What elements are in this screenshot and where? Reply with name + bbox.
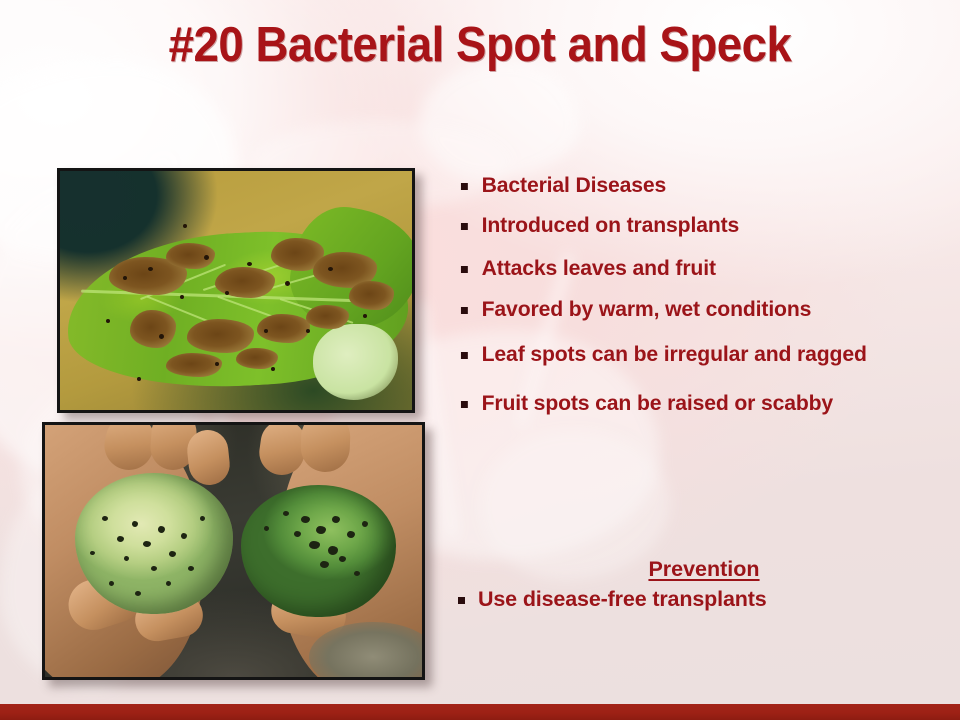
bullet-list: Bacterial Diseases Introduced on transpl…: [458, 172, 950, 417]
bullet-item: Leaf spots can be irregular and ragged: [458, 341, 943, 368]
page-title: #20 Bacterial Spot and Speck: [34, 16, 927, 74]
bottom-accent-bar: [0, 704, 960, 720]
slide: #20 Bacterial Spot and Speck: [0, 0, 960, 720]
prevention-heading: Prevention: [458, 556, 950, 582]
prevention-item: Use disease-free transplants: [458, 586, 950, 613]
diseased-tomato-leaf-photo: [57, 168, 415, 413]
bullet-item: Favored by warm, wet conditions: [458, 296, 943, 323]
bullet-item: Fruit spots can be raised or scabby: [458, 390, 943, 417]
bullet-item: Introduced on transplants: [458, 212, 943, 239]
spotted-green-tomatoes-photo: [42, 422, 425, 680]
bullet-item: Attacks leaves and fruit: [458, 255, 943, 282]
prevention-section: Prevention Use disease-free transplants: [458, 556, 950, 613]
bullet-item: Bacterial Diseases: [458, 172, 943, 199]
